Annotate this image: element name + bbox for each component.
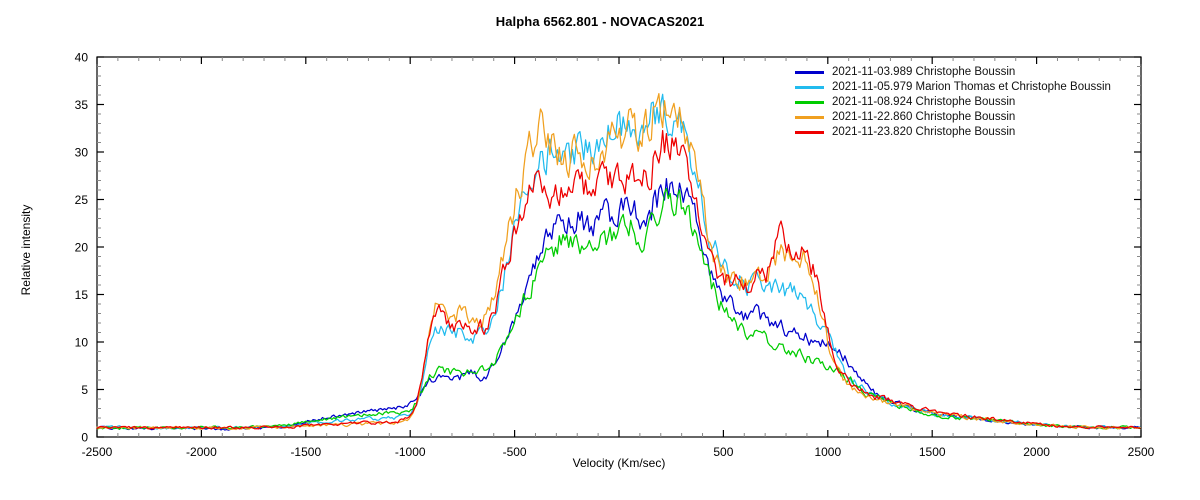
legend-item-label: 2021-11-03.989 Christophe Boussin <box>832 66 1015 79</box>
legend-color-swatch <box>795 71 824 74</box>
y-axis-tick-label: 35 <box>75 98 89 112</box>
x-axis-tick-label: 2000 <box>1023 445 1050 459</box>
series-line-2021-11-03.989 <box>97 179 1140 431</box>
x-axis-tick-label: 1000 <box>814 445 841 459</box>
y-axis-tick-label: 30 <box>75 146 89 160</box>
legend-item: 2021-11-05.979 Marion Thomas et Christop… <box>795 81 1111 94</box>
x-axis-tick-label: -1500 <box>290 445 321 459</box>
series-group <box>97 94 1140 431</box>
legend-item-label: 2021-11-22.860 Christophe Boussin <box>832 111 1015 124</box>
y-axis-tick-label: 0 <box>81 431 88 445</box>
legend-color-swatch <box>795 131 824 134</box>
legend-item: 2021-11-23.820 Christophe Boussin <box>795 126 1111 139</box>
x-axis-tick-label: 1500 <box>919 445 946 459</box>
x-axis-tick-label: -2500 <box>82 445 113 459</box>
y-axis-tick-label: 10 <box>75 336 89 350</box>
legend-item-label: 2021-11-05.979 Marion Thomas et Christop… <box>832 81 1111 94</box>
y-axis-tick-label: 15 <box>75 288 89 302</box>
series-line-2021-11-22.860 <box>97 94 1140 430</box>
x-axis-tick-label: -500 <box>503 445 527 459</box>
x-axis-label: Velocity (Km/sec) <box>573 456 666 470</box>
chart-legend: 2021-11-03.989 Christophe Boussin2021-11… <box>795 66 1111 139</box>
legend-item-label: 2021-11-23.820 Christophe Boussin <box>832 126 1015 139</box>
legend-color-swatch <box>795 116 824 119</box>
series-line-2021-11-23.820 <box>97 131 1140 429</box>
y-axis-label: Relative intensity <box>19 205 33 296</box>
series-line-2021-11-08.924 <box>97 189 1140 430</box>
x-axis-tick-label: -1000 <box>395 445 426 459</box>
y-axis-tick-label: 20 <box>75 241 89 255</box>
x-axis-tick-label: 2500 <box>1128 445 1155 459</box>
legend-item-label: 2021-11-08.924 Christophe Boussin <box>832 96 1015 109</box>
x-axis-tick-label: 500 <box>713 445 733 459</box>
legend-item: 2021-11-08.924 Christophe Boussin <box>795 96 1111 109</box>
y-axis-tick-label: 5 <box>81 383 88 397</box>
chart-container: Halpha 6562.801 - NOVACAS2021 -2500-2000… <box>0 0 1200 500</box>
legend-color-swatch <box>795 86 824 89</box>
y-axis-tick-label: 40 <box>75 51 89 65</box>
x-axis-tick-label: -2000 <box>186 445 217 459</box>
legend-item: 2021-11-22.860 Christophe Boussin <box>795 111 1111 124</box>
series-line-2021-11-05.979 <box>97 94 1140 429</box>
legend-color-swatch <box>795 101 824 104</box>
y-axis-tick-label: 25 <box>75 193 89 207</box>
legend-item: 2021-11-03.989 Christophe Boussin <box>795 66 1111 79</box>
